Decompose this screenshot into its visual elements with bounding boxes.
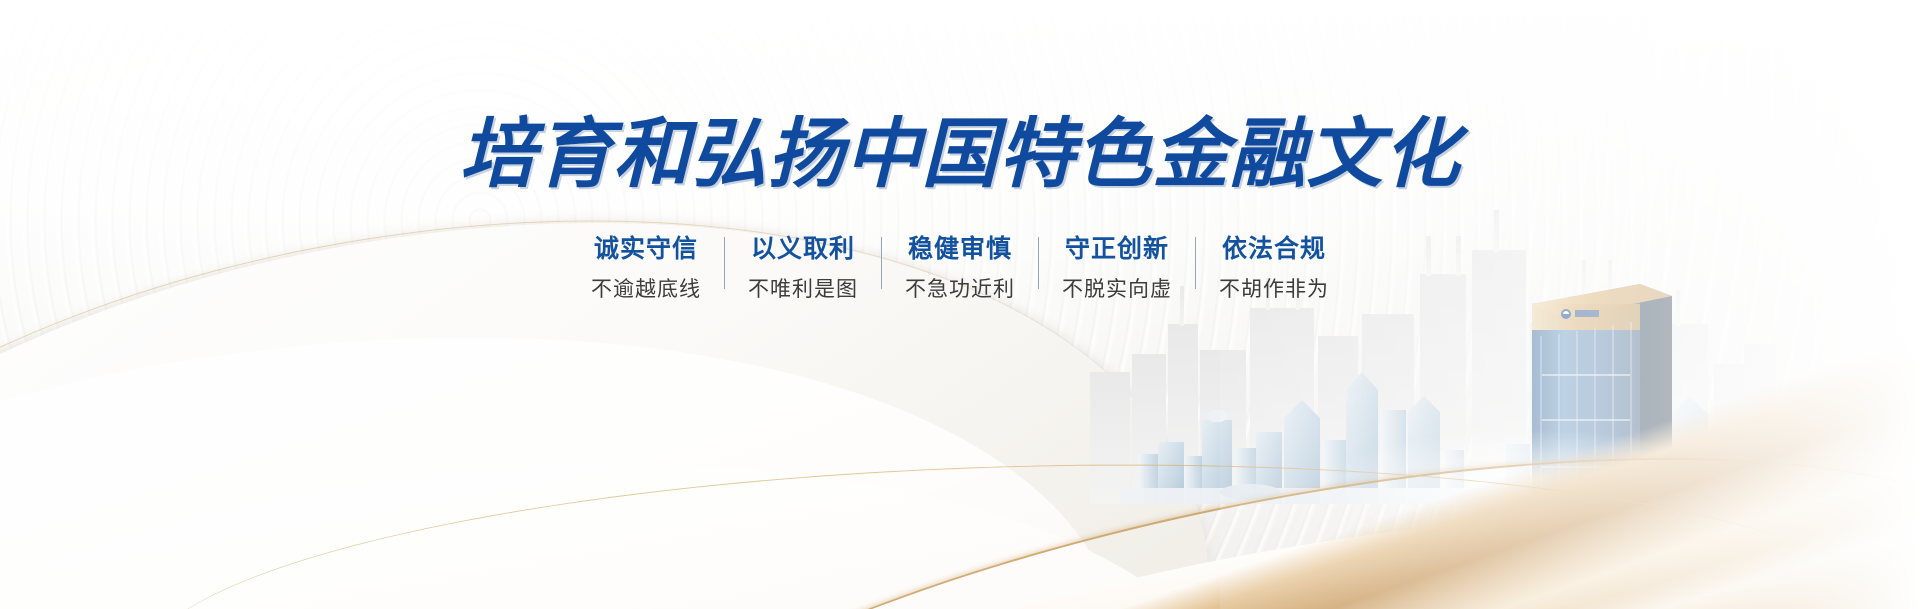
page-title: 培育和弘扬中国特色金融文化 bbox=[0, 0, 1920, 192]
banner-root: 培育和弘扬中国特色金融文化 诚实守信 不逾越底线 以义取利 不唯利是图 稳健审慎… bbox=[0, 0, 1920, 609]
value-list: 诚实守信 不逾越底线 以义取利 不唯利是图 稳健审慎 不急功近利 守正创新 不脱… bbox=[0, 234, 1920, 302]
value-subtitle: 不逾越底线 bbox=[586, 277, 706, 302]
value-subtitle: 不胡作非为 bbox=[1214, 277, 1334, 302]
value-title: 依法合规 bbox=[1214, 234, 1334, 264]
value-subtitle: 不脱实向虚 bbox=[1057, 277, 1177, 302]
value-item-5: 依法合规 不胡作非为 bbox=[1196, 234, 1352, 302]
banner-content: 培育和弘扬中国特色金融文化 诚实守信 不逾越底线 以义取利 不唯利是图 稳健审慎… bbox=[0, 0, 1920, 302]
value-item-4: 守正创新 不脱实向虚 bbox=[1039, 234, 1195, 302]
value-item-3: 稳健审慎 不急功近利 bbox=[882, 234, 1038, 302]
value-item-1: 诚实守信 不逾越底线 bbox=[568, 234, 724, 302]
value-subtitle: 不急功近利 bbox=[900, 277, 1020, 302]
value-title: 以义取利 bbox=[743, 234, 863, 264]
value-item-2: 以义取利 不唯利是图 bbox=[725, 234, 881, 302]
value-subtitle: 不唯利是图 bbox=[743, 277, 863, 302]
value-title: 诚实守信 bbox=[586, 234, 706, 264]
value-title: 守正创新 bbox=[1057, 234, 1177, 264]
value-title: 稳健审慎 bbox=[900, 234, 1020, 264]
